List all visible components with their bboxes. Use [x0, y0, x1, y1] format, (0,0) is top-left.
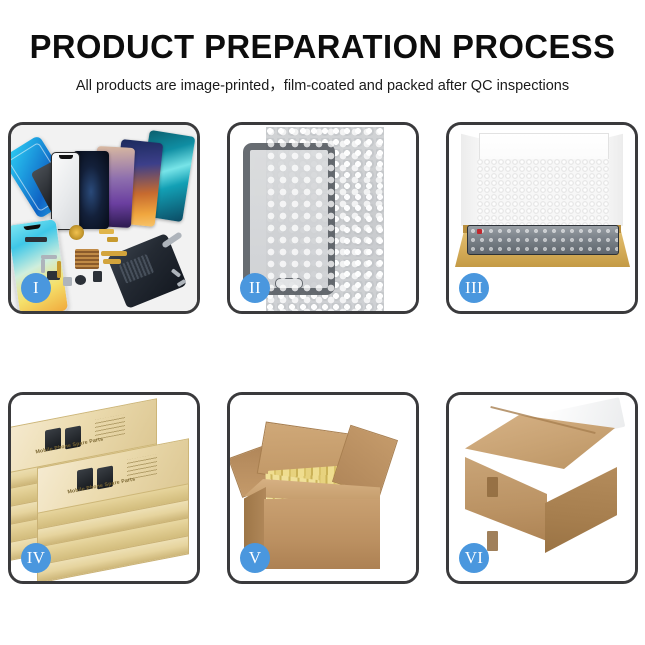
- panel-badge-2: II: [240, 273, 270, 303]
- header: PRODUCT PREPARATION PROCESS All products…: [0, 0, 645, 95]
- process-panel-1[interactable]: I: [8, 122, 200, 314]
- panel-badge-5: V: [240, 543, 270, 573]
- panel-badge-3: III: [459, 273, 489, 303]
- process-panel-3[interactable]: III: [446, 122, 638, 314]
- panel-badge-1: I: [21, 273, 51, 303]
- process-panel-grid: I II III: [8, 122, 638, 584]
- process-panel-6[interactable]: VI: [446, 392, 638, 584]
- process-panel-5[interactable]: V: [227, 392, 419, 584]
- process-panel-4[interactable]: Mobile Phone Spare Parts Mobile Phone Sp…: [8, 392, 200, 584]
- page-title: PRODUCT PREPARATION PROCESS: [3, 0, 642, 65]
- process-panel-2[interactable]: II: [227, 122, 419, 314]
- page-subtitle: All products are image-printed，film-coat…: [0, 65, 645, 95]
- panel-badge-6: VI: [459, 543, 489, 573]
- panel-badge-4: IV: [21, 543, 51, 573]
